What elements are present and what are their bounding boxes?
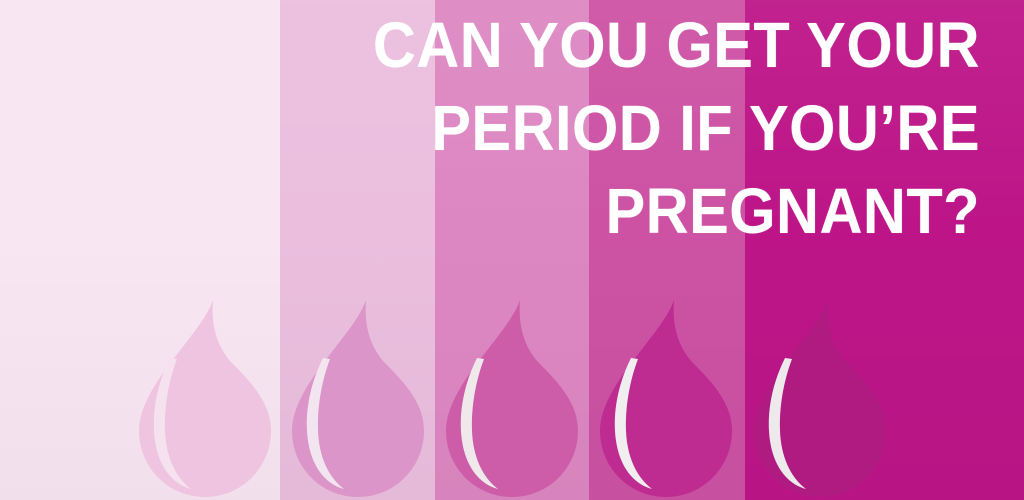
headline-line-1: CAN YOU GET YOUR (106, 4, 980, 87)
headline-line-3: PREGNANT? (106, 170, 980, 253)
headline: CAN YOU GET YOUR PERIOD IF YOU’RE PREGNA… (106, 4, 980, 253)
period-pregnancy-banner: CAN YOU GET YOUR PERIOD IF YOU’RE PREGNA… (0, 0, 1024, 500)
headline-line-2: PERIOD IF YOU’RE (106, 87, 980, 170)
